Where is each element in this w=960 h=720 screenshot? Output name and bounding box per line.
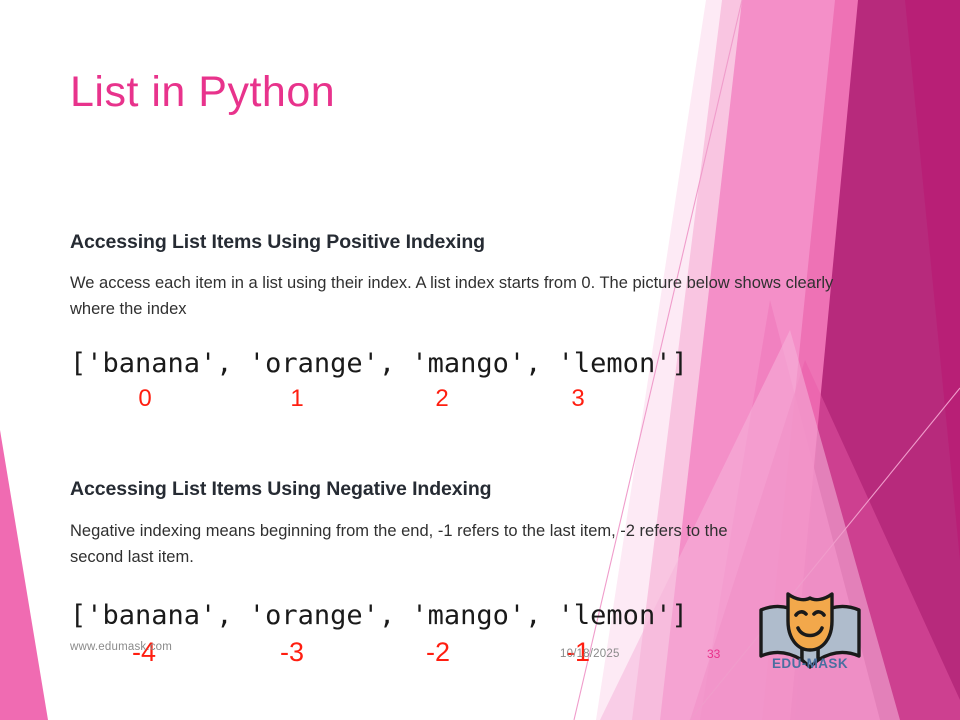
index-labels-positive: 0 1 2 3 — [70, 385, 690, 419]
index-label: 2 — [435, 385, 448, 413]
slide-canvas: List in Python Accessing List Items Usin… — [0, 0, 960, 720]
page-title: List in Python — [70, 68, 335, 117]
code-list-negative: ['banana', 'orange', 'mango', 'lemon'] — [70, 600, 688, 631]
section-heading-positive-indexing: Accessing List Items Using Positive Inde… — [70, 231, 485, 254]
footer-website: www.edumask.com — [70, 641, 172, 653]
index-label: -3 — [280, 637, 304, 668]
left-corner-triangle — [0, 430, 48, 720]
index-label: 3 — [571, 385, 584, 413]
section-heading-negative-indexing: Accessing List Items Using Negative Inde… — [70, 478, 491, 501]
edu-mask-logo-text: EDU-MASK — [755, 656, 865, 671]
index-label: 1 — [290, 385, 303, 413]
index-label: -2 — [426, 637, 450, 668]
theatre-mask-icon — [788, 594, 832, 650]
index-label: 0 — [138, 385, 151, 413]
section-body-negative-indexing: Negative indexing means beginning from t… — [70, 519, 770, 570]
code-list-positive: ['banana', 'orange', 'mango', 'lemon'] — [70, 348, 688, 379]
footer-date: 10/18/2025 — [560, 648, 620, 660]
section-body-positive-indexing: We access each item in a list using thei… — [70, 271, 870, 322]
footer-page-number: 33 — [707, 647, 720, 661]
